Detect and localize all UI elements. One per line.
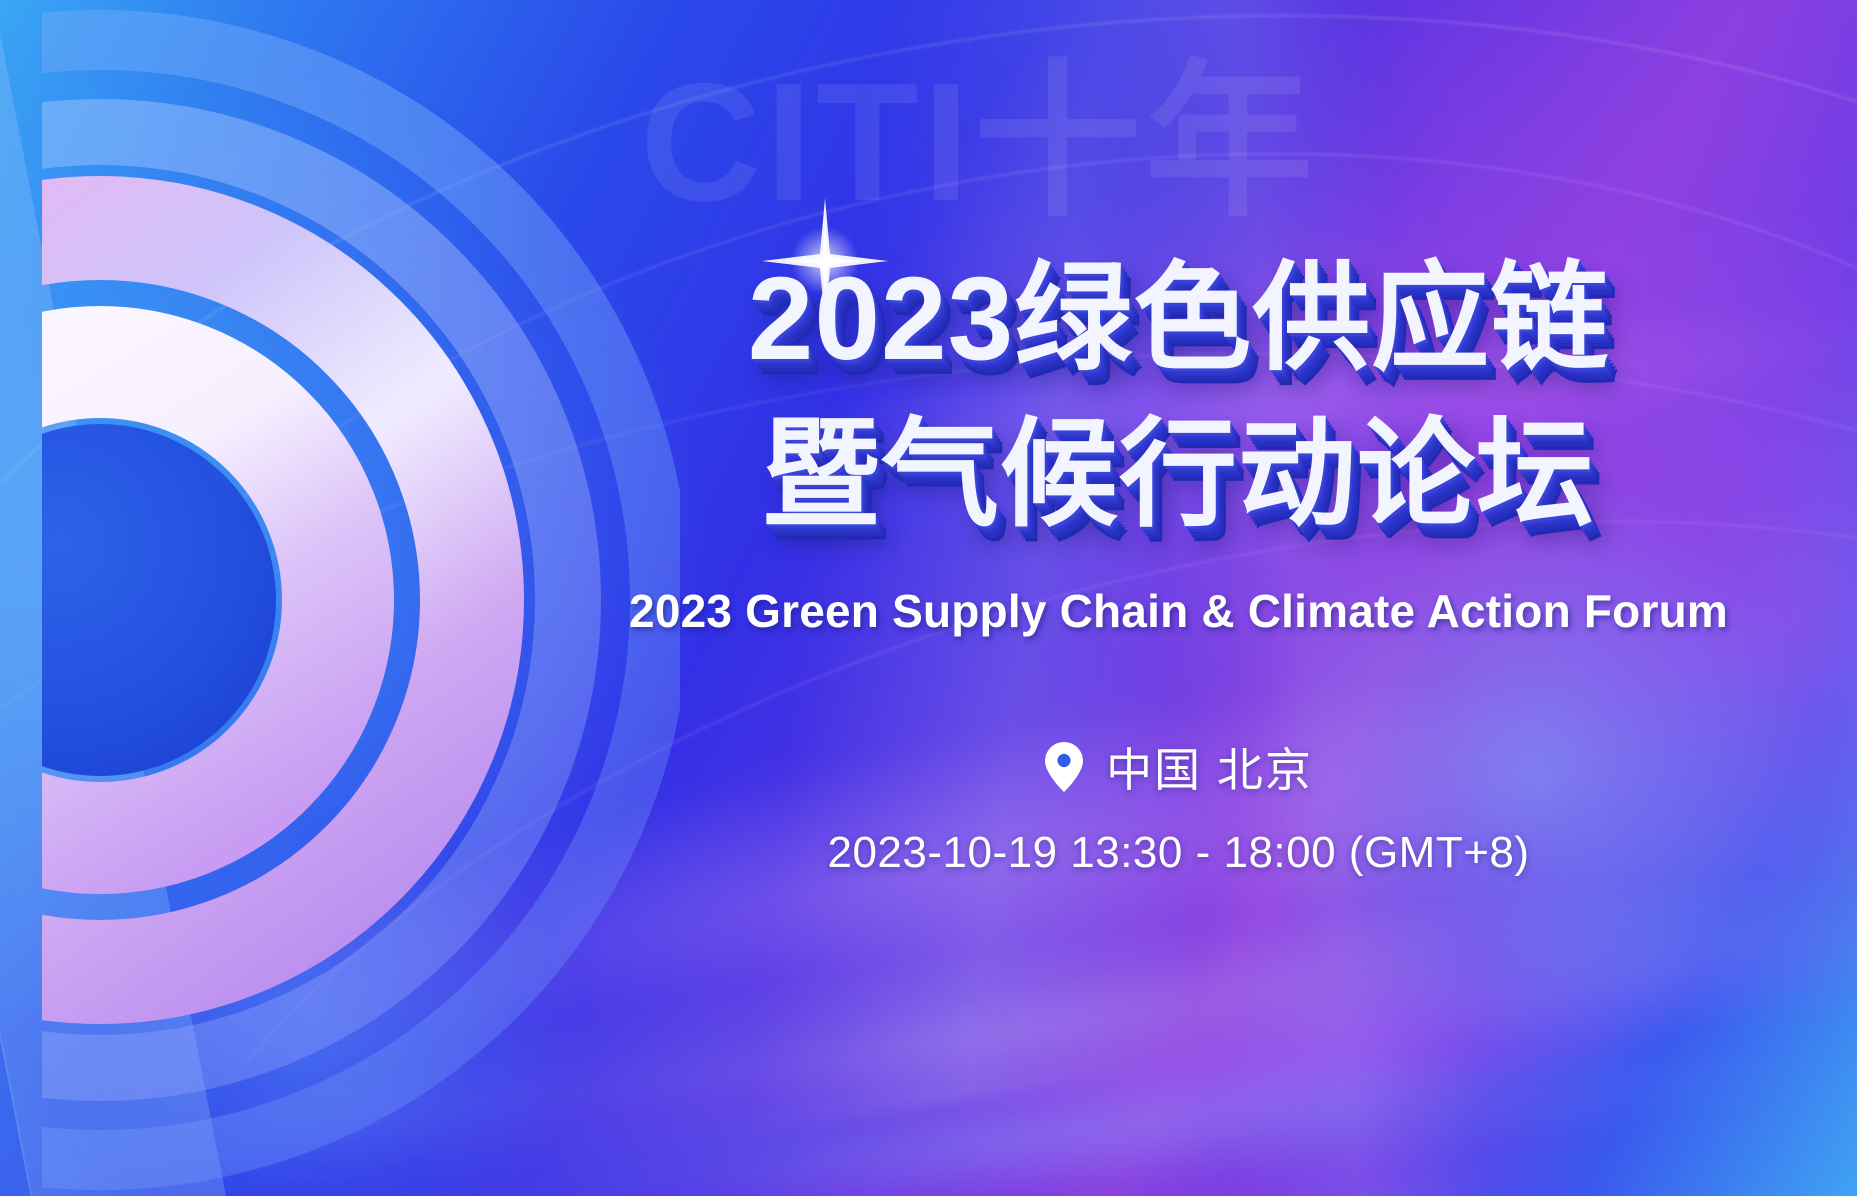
datetime-text: 2023-10-19 13:30 - 18:00 (GMT+8) [827, 828, 1529, 878]
title-line-2: 暨气候行动论坛 [762, 404, 1595, 548]
location-pin-icon [1044, 741, 1084, 793]
title-line-1: 2023绿色供应链 [748, 248, 1610, 392]
event-banner: CITI十年 2023绿色供应链 暨气候行动论坛 2023 Green Supp… [0, 0, 1857, 1196]
subtitle-english: 2023 Green Supply Chain & Climate Action… [629, 584, 1728, 638]
banner-content: 2023绿色供应链 暨气候行动论坛 2023 Green Supply Chai… [500, 0, 1857, 1196]
location-text: 中国 北京 [1106, 734, 1313, 800]
location-row: 中国 北京 [1044, 734, 1313, 800]
